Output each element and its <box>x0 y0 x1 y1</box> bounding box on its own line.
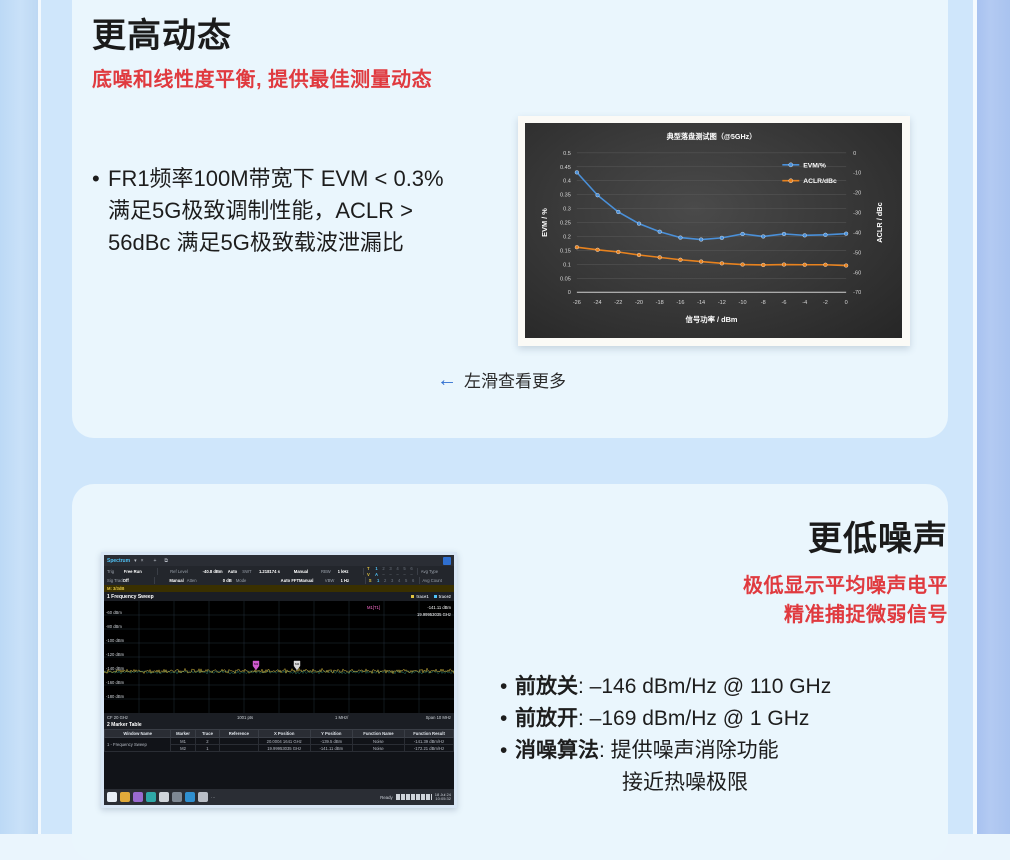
svg-text:0.05: 0.05 <box>560 276 571 282</box>
svg-text:-30: -30 <box>853 211 861 217</box>
led-s6: 6 <box>411 578 416 583</box>
parameter-row-2: Sig Track Off Manual Atten 0 dB Mode Aut… <box>107 576 451 585</box>
svg-text:-4: -4 <box>802 300 807 306</box>
trace1-color-swatch <box>411 595 414 598</box>
svg-text:-20: -20 <box>853 191 861 197</box>
trace2-color-swatch <box>434 595 437 598</box>
bullet-text: 前放关: –146 dBm/Hz @ 110 GHz <box>515 671 831 703</box>
tools-icon[interactable] <box>172 792 182 802</box>
taskbar-status-label: Ready <box>380 795 393 800</box>
svg-text:-8: -8 <box>761 300 766 306</box>
divider <box>154 577 155 584</box>
camera-icon[interactable] <box>146 792 156 802</box>
svg-text:M2: M2 <box>295 662 299 666</box>
screenshot-icon[interactable] <box>198 792 208 802</box>
folder-icon[interactable] <box>120 792 130 802</box>
svg-text:典型落盘测试图（@5GHz）: 典型落盘测试图（@5GHz） <box>667 132 757 141</box>
bullet-separator: : <box>599 739 611 762</box>
param-label-trig: Trig <box>107 569 124 574</box>
trace2-label: trace2 <box>439 594 451 599</box>
led-4: 4 <box>395 566 400 571</box>
param-label-reflevel: Ref Level <box>161 569 188 574</box>
marker-table: Window Name Marker Trace Reference X Pos… <box>104 729 454 752</box>
bullet-text: 消噪算法: 提供噪声消除功能 <box>515 735 779 767</box>
svg-text:0.45: 0.45 <box>560 165 571 171</box>
chart-svg: 典型落盘测试图（@5GHz）00.050.10.150.20.250.30.35… <box>525 123 902 338</box>
led-v5: – <box>402 572 407 577</box>
svg-text:-120 dBm: -120 dBm <box>106 652 125 657</box>
param-label-avgtype: Avg Type <box>421 569 451 574</box>
svg-text:EVM / %: EVM / % <box>540 208 549 237</box>
bullet-label: 前放开 <box>515 707 578 730</box>
printer-icon[interactable] <box>159 792 169 802</box>
svg-text:-22: -22 <box>614 300 622 306</box>
param-label-swt: SWT <box>242 569 259 574</box>
cell-function-result: -141.39 dBm/Hz <box>405 738 454 745</box>
svg-text:M1[T1]: M1[T1] <box>367 605 380 610</box>
section-noise-bullet-list: • 前放关: –146 dBm/Hz @ 110 GHz • 前放开: –169… <box>500 671 960 799</box>
svg-text:-60: -60 <box>853 270 861 276</box>
section-dynamic-bullet-list: • FR1频率100M带宽下 EVM < 0.3% 满足5G极致调制性能，ACL… <box>92 163 462 259</box>
bullet-value-continuation: 接近热噪极限 <box>500 767 960 799</box>
bullet-text: FR1频率100M带宽下 EVM < 0.3% 满足5G极致调制性能，ACLR … <box>108 163 462 259</box>
bullet-dot-icon: • <box>92 163 108 195</box>
cell-reference <box>220 738 258 745</box>
cell-y-position: -139.5 dBm <box>310 738 352 745</box>
svg-text:-60 dBm: -60 dBm <box>106 610 122 615</box>
led-1: 1 <box>374 566 379 571</box>
svg-text:ACLR / dBc: ACLR / dBc <box>875 202 884 242</box>
led-3: 3 <box>388 566 393 571</box>
svg-text:-40: -40 <box>853 230 861 236</box>
svg-text:M1: M1 <box>254 662 258 666</box>
trace-led-grid-2: S 1 2 3 4 5 6 <box>369 578 416 583</box>
clock-time: 10:05:32 <box>435 797 451 801</box>
led-6: 6 <box>409 566 414 571</box>
list-item: • 前放开: –169 dBm/Hz @ 1 GHz <box>500 703 960 735</box>
svg-text:0: 0 <box>853 151 856 157</box>
window-header-label: 1 Frequency Sweep <box>107 594 154 600</box>
svg-text:-24: -24 <box>594 300 602 306</box>
svg-text:ACLR/dBc: ACLR/dBc <box>803 178 837 185</box>
evm-aclr-chart-frame: 典型落盘测试图（@5GHz）00.050.10.150.20.250.30.35… <box>518 116 910 346</box>
led-v4: – <box>395 572 400 577</box>
bullet-value: –169 dBm/Hz @ 1 GHz <box>590 707 810 730</box>
param-value-manual-1[interactable]: Manual <box>294 569 321 574</box>
param-label-avgcount: Avg Count <box>422 578 451 583</box>
led-v1: A <box>374 572 379 577</box>
param-value-sigtrack[interactable]: Off <box>123 578 152 583</box>
param-value-vbw[interactable]: 1 Hz <box>341 578 362 583</box>
bullet-text: 前放开: –169 dBm/Hz @ 1 GHz <box>515 703 809 735</box>
svg-text:-100 dBm: -100 dBm <box>106 638 125 643</box>
cell-x-position: 19.99953035 GHz <box>258 745 310 752</box>
column-header-marker: Marker <box>171 730 195 738</box>
arrow-left-icon: ← <box>437 370 457 390</box>
bullet-separator: : <box>578 707 590 730</box>
svg-text:-10: -10 <box>739 300 747 306</box>
cell-trace: 2 <box>195 738 219 745</box>
svg-text:-80 dBm: -80 dBm <box>106 624 122 629</box>
column-header-reference: Reference <box>220 730 258 738</box>
trace-led-grid: T 1 2 3 4 5 6 V A – – – – <box>367 566 414 577</box>
bullet-label: 消噪算法 <box>515 739 599 762</box>
axis-start-freq: CF 20 GHz <box>107 715 128 720</box>
parameter-row-1: Trig Free Run Ref Level -40.8 dBm Auto S… <box>107 567 451 576</box>
param-value-manual-3[interactable]: Manual <box>299 578 325 583</box>
cell-marker: M1 <box>171 738 195 745</box>
svg-text:19.99953035 GHz: 19.99953035 GHz <box>417 612 451 617</box>
divider <box>363 568 364 575</box>
bullet-value: –146 dBm/Hz @ 110 GHz <box>590 675 832 698</box>
chevron-down-icon[interactable]: ▾ <box>134 558 137 564</box>
svg-text:0.15: 0.15 <box>560 248 571 254</box>
param-label-rbw: RBW <box>321 569 338 574</box>
led-v3: – <box>388 572 393 577</box>
spectrum-status-line: M: 3/3dB <box>104 585 454 592</box>
section-dynamic-title: 更高动态 <box>92 18 232 55</box>
progress-bar <box>396 794 432 800</box>
trace-legend-item-2: trace2 <box>434 594 451 599</box>
settings-gear-icon[interactable] <box>107 792 117 802</box>
param-label-vbw: VBW <box>325 578 341 583</box>
table-row[interactable]: 1 - Frequency Sweep M1 2 20.0004 1641 GH… <box>105 738 454 745</box>
marker-table-header[interactable]: 2 Marker Table <box>104 721 454 729</box>
param-value-atten[interactable]: 0 dB <box>199 578 232 583</box>
spectrum-analyzer-window: Spectrum ▾ × + ⧉ Trig Free Run Ref Level… <box>104 555 454 805</box>
svg-text:-10: -10 <box>853 171 861 177</box>
swipe-left-hint[interactable]: ← 左滑查看更多 <box>437 367 566 392</box>
column-header-x-position: X Position <box>258 730 310 738</box>
svg-text:-20: -20 <box>635 300 643 306</box>
param-value-swt[interactable]: 1.218174 s <box>259 569 294 574</box>
svg-text:-160 dBm: -160 dBm <box>106 680 125 685</box>
spectrum-graph-svg: -60 dBm-80 dBm-100 dBm-120 dBm-140 dBm-1… <box>104 601 454 713</box>
bullet-dot-icon: • <box>500 735 515 767</box>
led-2: 2 <box>381 566 386 571</box>
page-left-edge-band <box>0 0 38 834</box>
svg-text:-14: -14 <box>697 300 705 306</box>
taskbar-clock: 18 Jul 24 10:05:32 <box>435 793 451 802</box>
axis-points: 1001 pts <box>237 715 253 720</box>
svg-text:-12: -12 <box>718 300 726 306</box>
led-label-v: V <box>367 572 372 577</box>
taskbar-overflow-button[interactable]: ··· <box>211 795 215 800</box>
svg-text:0: 0 <box>845 300 848 306</box>
svg-text:-180 dBm: -180 dBm <box>106 694 125 699</box>
spectrum-axis-footer: CF 20 GHz 1001 pts 1 MHz/ Span 10 MHz <box>104 713 454 721</box>
section-noise-title: 更低噪声 <box>808 521 948 558</box>
svg-text:0.2: 0.2 <box>563 234 571 240</box>
bullet-dot-icon: • <box>500 703 515 735</box>
column-header-function-result: Function Result <box>405 730 454 738</box>
list-item: • FR1频率100M带宽下 EVM < 0.3% 满足5G极致调制性能，ACL… <box>92 163 462 259</box>
svg-text:0: 0 <box>568 290 571 296</box>
spectrum-trace-graph[interactable]: -60 dBm-80 dBm-100 dBm-120 dBm-140 dBm-1… <box>104 601 454 713</box>
trace-legend-item-1: trace1 <box>411 594 428 599</box>
page-left-inner-band <box>41 0 72 834</box>
divider <box>365 577 366 584</box>
led-s4: 4 <box>397 578 402 583</box>
svg-text:0.4: 0.4 <box>563 179 571 185</box>
divider <box>417 568 418 575</box>
svg-text:-26: -26 <box>573 300 581 306</box>
add-tab-button[interactable]: + <box>154 558 157 564</box>
svg-text:-16: -16 <box>676 300 684 306</box>
param-value-rbw[interactable]: 1 kHz <box>338 569 361 574</box>
section-noise-subtitle: 极低显示平均噪声电平 精准捕捉微弱信号 <box>743 572 948 630</box>
svg-text:信号功率 / dBm: 信号功率 / dBm <box>686 315 738 324</box>
list-item: • 前放关: –146 dBm/Hz @ 110 GHz <box>500 671 960 703</box>
led-v2: – <box>381 572 386 577</box>
bullet-label: 前放关 <box>515 675 578 698</box>
cell-function-name: Noise <box>352 738 404 745</box>
tab-spectrum[interactable]: Spectrum <box>107 558 130 564</box>
param-label-sigtrack: Sig Track <box>107 578 123 583</box>
window-close-button[interactable] <box>443 557 451 565</box>
list-item: • 消噪算法: 提供噪声消除功能 <box>500 735 960 767</box>
led-label-t: T <box>367 566 372 571</box>
led-s1: 1 <box>376 578 381 583</box>
svg-text:0.5: 0.5 <box>563 151 571 157</box>
evm-aclr-chart: 典型落盘测试图（@5GHz）00.050.10.150.20.250.30.35… <box>525 123 902 338</box>
svg-text:0.35: 0.35 <box>560 193 571 199</box>
cell-reference <box>220 745 258 752</box>
column-header-trace: Trace <box>195 730 219 738</box>
column-header-window-name: Window Name <box>105 730 171 738</box>
led-s5: 5 <box>404 578 409 583</box>
bullet-value: 提供噪声消除功能 <box>611 739 779 762</box>
svg-text:-2: -2 <box>823 300 828 306</box>
trace-led-row-1: T 1 2 3 4 5 6 <box>367 566 414 571</box>
close-icon[interactable]: × <box>141 558 144 564</box>
window-header-frequency-sweep[interactable]: 1 Frequency Sweep trace1 trace2 <box>104 592 454 601</box>
swipe-hint-label: 左滑查看更多 <box>464 367 566 392</box>
copy-tab-button[interactable]: ⧉ <box>164 558 168 564</box>
cell-marker: M2 <box>171 745 195 752</box>
led-label-s: S <box>369 578 374 583</box>
bullet-separator: : <box>578 675 590 698</box>
trace1-label: trace1 <box>416 594 428 599</box>
page-right-edge-band <box>977 0 1010 834</box>
svg-text:EVM/%: EVM/% <box>803 162 826 169</box>
svg-text:-70: -70 <box>853 290 861 296</box>
section-dynamic-subtitle: 底噪和线性度平衡, 提供最佳测量动态 <box>92 68 432 92</box>
spectrum-titlebar: Spectrum ▾ × + ⧉ <box>104 555 454 566</box>
svg-text:0.1: 0.1 <box>563 262 571 268</box>
param-label-atten: Atten <box>184 578 199 583</box>
divider <box>419 577 420 584</box>
spectrum-taskbar: ··· Ready 18 Jul 24 10:05:32 <box>104 789 454 805</box>
cell-trace: 1 <box>195 745 219 752</box>
section-noise-subtitle-line2: 精准捕捉微弱信号 <box>743 601 948 630</box>
led-s3: 3 <box>390 578 395 583</box>
svg-text:-141.11 dBm: -141.11 dBm <box>427 605 451 610</box>
section-noise-subtitle-line1: 极低显示平均噪声电平 <box>743 572 948 601</box>
param-value-reflevel[interactable]: -40.8 dBm <box>188 569 223 574</box>
param-value-manual-2[interactable]: Manual <box>158 578 184 583</box>
led-5: 5 <box>402 566 407 571</box>
cell-window-name: 1 - Frequency Sweep <box>105 738 171 752</box>
bullet-dot-icon: • <box>500 671 515 703</box>
svg-text:0.25: 0.25 <box>560 221 571 227</box>
column-header-function-name: Function Name <box>352 730 404 738</box>
led-v6: – <box>409 572 414 577</box>
param-label-mode: Mode <box>232 578 251 583</box>
trace-legend: trace1 trace2 <box>411 594 451 599</box>
divider <box>157 568 158 575</box>
spectrum-parameter-bar: Trig Free Run Ref Level -40.8 dBm Auto S… <box>104 566 454 585</box>
column-header-y-position: Y Position <box>310 730 352 738</box>
marker-table-header-row: Window Name Marker Trace Reference X Pos… <box>105 730 454 738</box>
param-value-trig[interactable]: Free Run <box>124 569 154 574</box>
param-value-mode[interactable]: Auto FFT <box>250 578 299 583</box>
network-icon[interactable] <box>185 792 195 802</box>
cell-function-name: Noise <box>352 745 404 752</box>
svg-text:-50: -50 <box>853 250 861 256</box>
document-icon[interactable] <box>133 792 143 802</box>
trace-led-row-3: S 1 2 3 4 5 6 <box>369 578 416 583</box>
svg-text:-18: -18 <box>656 300 664 306</box>
spectrum-analyzer-screenshot: Spectrum ▾ × + ⧉ Trig Free Run Ref Level… <box>101 552 457 808</box>
axis-span-per-div: 1 MHz/ <box>335 715 348 720</box>
cell-y-position: -141.11 dBm <box>310 745 352 752</box>
svg-text:-6: -6 <box>782 300 787 306</box>
cell-function-result: -172.21 dBm/Hz <box>405 745 454 752</box>
axis-span: Span 10 MHz <box>426 715 451 720</box>
led-s2: 2 <box>383 578 388 583</box>
param-value-auto[interactable]: Auto <box>223 569 243 574</box>
cell-x-position: 20.0004 1641 GHz <box>258 738 310 745</box>
trace-led-row-2: V A – – – – – <box>367 572 414 577</box>
svg-text:0.3: 0.3 <box>563 207 571 213</box>
